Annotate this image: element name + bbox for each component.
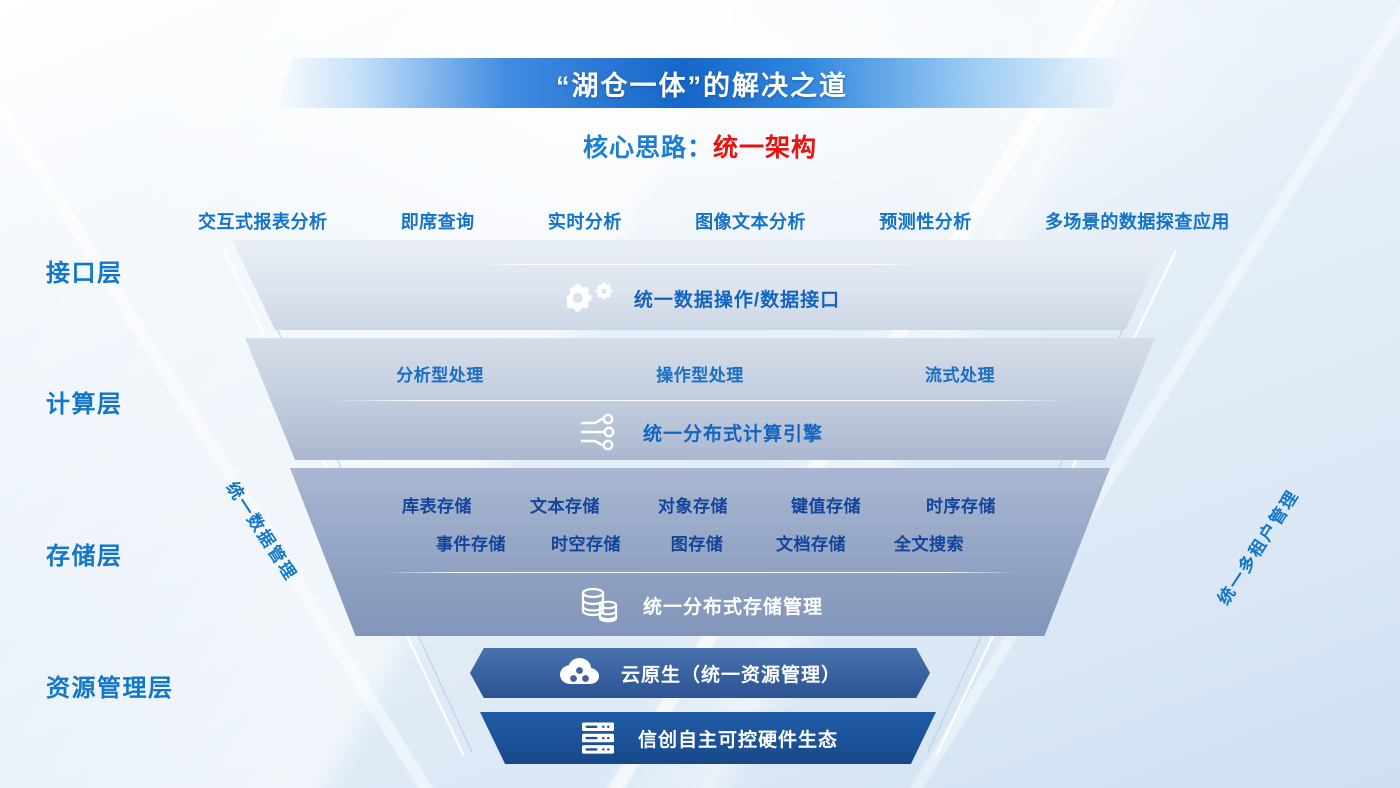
storage-layer-content: 统一分布式存储管理 [290, 584, 1110, 626]
storage-tag: 时空存储 [530, 530, 642, 555]
gear-small-icon [594, 282, 614, 302]
storage-tag: 全文搜索 [870, 530, 988, 555]
cloud-layer-text: 云原生（统一资源管理） [621, 660, 841, 687]
storage-tag: 对象存储 [629, 492, 757, 517]
slide-canvas: “湖仓一体”的解决之道 核心思路：统一架构 交互式报表分析 即席查询 实时分析 … [0, 0, 1400, 788]
cloud-nodes-icon [559, 657, 601, 689]
layer-label-storage: 存储层 [46, 536, 123, 571]
band-divider [475, 264, 924, 265]
application-tag: 多场景的数据探查应用 [1045, 208, 1230, 234]
funnel-band-cloud: 云原生（统一资源管理） [470, 648, 930, 698]
compute-tag: 分析型处理 [310, 361, 570, 386]
hardware-layer-content: 信创自主可控硬件生态 [480, 718, 936, 758]
storage-tag: 库表存储 [373, 492, 501, 517]
layer-label-interface: 接口层 [46, 253, 123, 288]
gear-icon [560, 282, 596, 314]
layer-label-resource-management: 资源管理层 [46, 668, 174, 703]
storage-tag: 文本存储 [501, 492, 629, 517]
layer-label-compute: 计算层 [46, 384, 123, 419]
funnel-band-storage: 库表存储 文本存储 对象存储 键值存储 时序存储 事件存储 时空存储 图存储 文… [290, 468, 1110, 636]
application-tag: 图像文本分析 [695, 208, 806, 234]
storage-tag-row-1: 库表存储 文本存储 对象存储 键值存储 时序存储 [290, 492, 1110, 517]
database-icon [577, 585, 623, 625]
storage-tag: 文档存储 [752, 530, 870, 555]
funnel-band-compute: 分析型处理 操作型处理 流式处理 [245, 338, 1155, 460]
side-label-unified-multitenancy: 统一多租户管理 [1210, 484, 1303, 609]
band-divider [327, 400, 1073, 401]
application-tag: 预测性分析 [879, 208, 972, 234]
side-label-unified-data-management: 统一数据管理 [222, 476, 305, 585]
band-divider [380, 572, 1020, 573]
subtitle-highlight: 统一架构 [713, 134, 817, 162]
funnel-band-hardware: 信创自主可控硬件生态 [480, 712, 936, 764]
application-tag: 实时分析 [548, 208, 622, 234]
application-tag-row: 交互式报表分析 即席查询 实时分析 图像文本分析 预测性分析 多场景的数据探查应… [198, 208, 1230, 234]
cloud-layer-content: 云原生（统一资源管理） [470, 653, 930, 693]
compute-tag-row: 分析型处理 操作型处理 流式处理 [245, 361, 1155, 386]
storage-tag: 事件存储 [412, 530, 530, 555]
application-tag: 即席查询 [401, 208, 475, 234]
circuit-nodes-icon [577, 413, 623, 451]
slide-title-banner: “湖仓一体”的解决之道 [276, 58, 1128, 108]
storage-layer-text: 统一分布式存储管理 [643, 592, 823, 619]
interface-layer-content: 统一数据操作/数据接口 [232, 278, 1168, 318]
interface-layer-text: 统一数据操作/数据接口 [634, 285, 840, 312]
storage-tag: 时序存储 [895, 492, 1027, 517]
compute-tag: 流式处理 [830, 361, 1090, 386]
funnel-band-interface: 统一数据操作/数据接口 [232, 240, 1168, 330]
page-title: “湖仓一体”的解决之道 [556, 64, 848, 103]
storage-tag: 键值存储 [757, 492, 895, 517]
compute-layer-content: 统一分布式计算引擎 [245, 412, 1155, 452]
subtitle-prefix: 核心思路： [583, 134, 713, 162]
server-rack-icon [578, 720, 618, 756]
application-tag: 交互式报表分析 [198, 208, 328, 234]
subtitle: 核心思路：统一架构 [0, 128, 1400, 164]
compute-layer-text: 统一分布式计算引擎 [643, 419, 823, 446]
storage-tag: 图存储 [642, 530, 752, 555]
compute-tag: 操作型处理 [570, 361, 830, 386]
storage-tag-row-2: 事件存储 时空存储 图存储 文档存储 全文搜索 [290, 530, 1110, 555]
hardware-layer-text: 信创自主可控硬件生态 [638, 725, 838, 752]
